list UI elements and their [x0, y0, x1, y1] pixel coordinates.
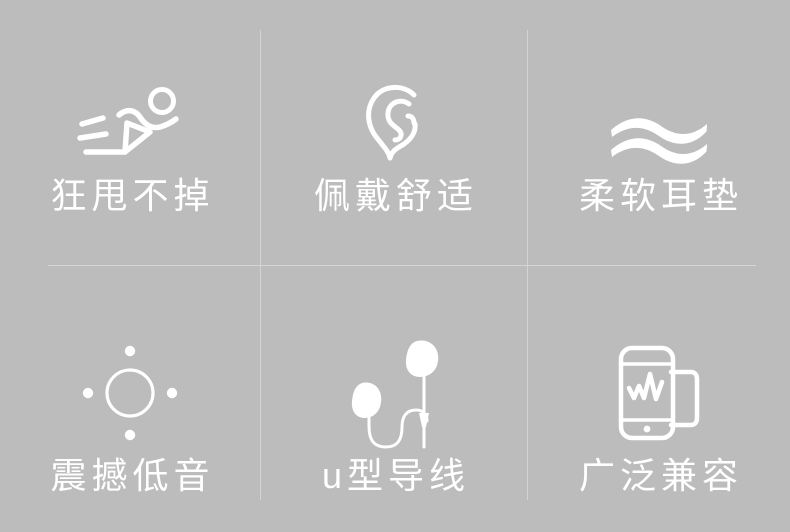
feature-cell-soft-eartips: 柔软耳垫	[527, 0, 790, 266]
feature-cell-secure-fit: 狂甩不掉	[0, 0, 260, 266]
soft-waves-icon	[609, 76, 709, 162]
feature-grid: 狂甩不掉 佩戴舒适	[0, 0, 790, 532]
ear-icon	[359, 76, 429, 162]
running-figure-icon	[78, 76, 182, 162]
feature-label: 柔软耳垫	[574, 178, 743, 214]
feature-label: 狂甩不掉	[45, 178, 214, 214]
feature-label: 震撼低音	[45, 458, 214, 494]
vibration-circle-icon	[77, 338, 183, 448]
feature-cell-u-shaped-cable: u型导线	[260, 266, 527, 532]
product-feature-banner: 狂甩不掉 佩戴舒适	[0, 0, 790, 532]
feature-cell-powerful-bass: 震撼低音	[0, 266, 260, 532]
phone-waveform-icon	[609, 338, 709, 448]
feature-label: 广泛兼容	[574, 458, 743, 494]
feature-label: 佩戴舒适	[309, 178, 478, 214]
feature-label: u型导线	[317, 458, 470, 494]
feature-cell-comfortable-wear: 佩戴舒适	[260, 0, 527, 266]
earbuds-cable-icon	[338, 338, 450, 448]
feature-cell-wide-compatibility: 广泛兼容	[527, 266, 790, 532]
